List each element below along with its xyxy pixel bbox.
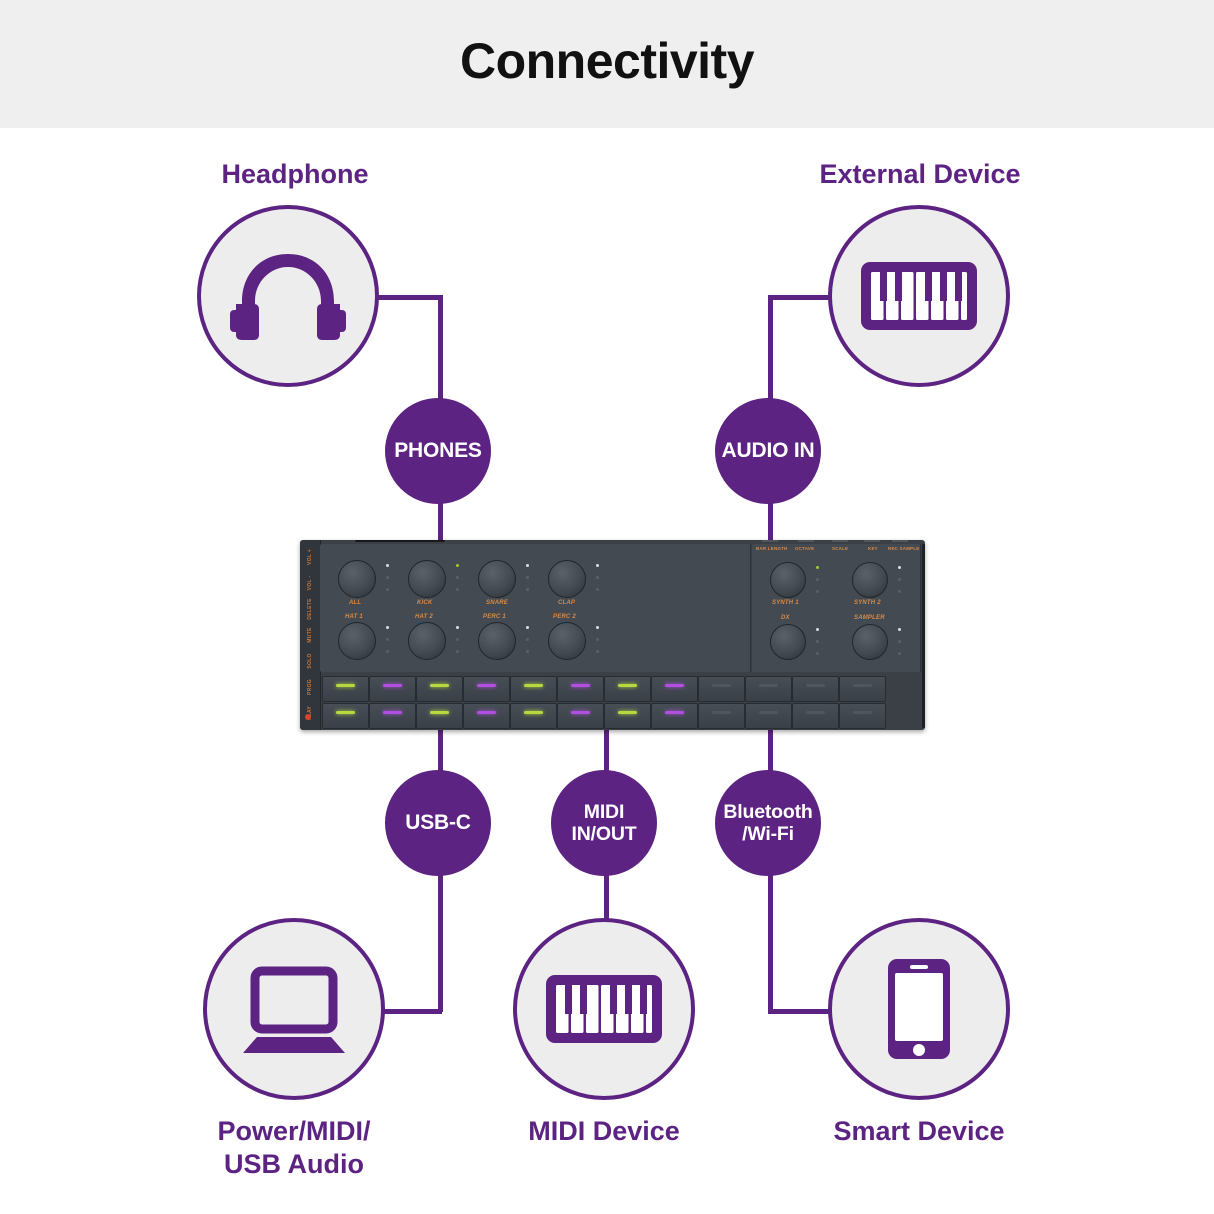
pad[interactable]: [839, 676, 886, 702]
device-main-panel: [320, 544, 750, 672]
menu-item[interactable]: REVERB: [922, 678, 925, 683]
knob-all[interactable]: [338, 560, 376, 598]
menu-item[interactable]: ATTACK: [922, 606, 925, 611]
menu-item[interactable]: CHARACTER: [922, 570, 925, 575]
node-midi-device[interactable]: [513, 918, 695, 1100]
knob-synth-1[interactable]: [770, 562, 806, 598]
knob-synth-2[interactable]: [852, 562, 888, 598]
pad[interactable]: [416, 703, 463, 729]
knob-snare[interactable]: [478, 560, 516, 598]
knob-sampler[interactable]: [852, 624, 888, 660]
connector-external-v: [768, 295, 773, 410]
page-title: Connectivity: [0, 32, 1214, 90]
keyboard-piano-icon: [544, 973, 664, 1045]
pad[interactable]: [557, 703, 604, 729]
port-badge-midi-in-out-label: MIDI IN/OUT: [572, 801, 637, 846]
seq-label: BAR LENGTH: [756, 546, 788, 551]
pad[interactable]: [510, 676, 557, 702]
menu-item[interactable]: VOLUME: [922, 597, 925, 602]
pad[interactable]: [463, 676, 510, 702]
menu-item[interactable]: PAN: [922, 588, 925, 593]
seq-button[interactable]: [864, 540, 880, 542]
menu-item[interactable]: SCENE: [922, 696, 925, 701]
seq-button[interactable]: [832, 540, 848, 542]
page-header: Connectivity: [0, 0, 1214, 128]
device-left-strip: VOL + VOL - DELETE MUTE SOLO PROG PLAY: [300, 540, 321, 730]
device-left-label: PLAY: [307, 691, 313, 730]
connector-phones-device: [438, 498, 443, 546]
knob-label: ALL: [349, 600, 361, 606]
node-headphone[interactable]: [197, 205, 379, 387]
menu-item[interactable]: FILTER: [922, 651, 925, 656]
menu-item[interactable]: RESONANCE: [922, 642, 925, 647]
node-label-midi-device: MIDI Device: [439, 1115, 769, 1148]
pad[interactable]: [651, 676, 698, 702]
connectivity-diagram: Connectivity Headphone External Devi: [0, 0, 1214, 1214]
record-indicator-icon: [305, 714, 311, 720]
node-power-midi-usb-audio[interactable]: [203, 918, 385, 1100]
knob-label: SYNTH 2: [854, 600, 881, 606]
seq-label: OCTAVE: [795, 546, 814, 551]
pad[interactable]: [698, 703, 745, 729]
knob-perc-1[interactable]: [478, 622, 516, 660]
connector-audioin-device: [768, 498, 773, 546]
pad[interactable]: [745, 703, 792, 729]
pad[interactable]: [369, 676, 416, 702]
port-badge-audio-in-label: AUDIO IN: [722, 439, 815, 463]
pad[interactable]: [604, 703, 651, 729]
pad[interactable]: [839, 703, 886, 729]
port-badge-phones[interactable]: PHONES: [385, 398, 491, 504]
knob-hat-1[interactable]: [338, 622, 376, 660]
port-badge-bluetooth-wifi[interactable]: Bluetooth /Wi-Fi: [715, 770, 821, 876]
knob-label: SYNTH 1: [772, 600, 799, 606]
menu-item[interactable]: TONE: [922, 633, 925, 638]
pad[interactable]: [463, 703, 510, 729]
connector-usbc-v: [438, 866, 443, 1012]
port-badge-bluetooth-wifi-label: Bluetooth /Wi-Fi: [723, 801, 812, 846]
connector-external-h: [768, 295, 832, 300]
pad[interactable]: [416, 676, 463, 702]
seq-label: SCALE: [832, 546, 848, 551]
seq-button[interactable]: [798, 540, 814, 542]
knob-kick[interactable]: [408, 560, 446, 598]
node-smart-device[interactable]: [828, 918, 1010, 1100]
port-badge-phones-label: PHONES: [394, 439, 482, 463]
connector-bt-v: [768, 866, 773, 1012]
menu-item[interactable]: DELAY: [922, 660, 925, 665]
node-label-power-midi-usb-audio: Power/MIDI/ USB Audio: [129, 1115, 459, 1181]
seq-button[interactable]: [892, 540, 908, 542]
node-label-headphone: Headphone: [130, 158, 460, 191]
connector-headphone-h: [378, 295, 442, 300]
pad[interactable]: [369, 703, 416, 729]
pad[interactable]: [745, 676, 792, 702]
node-label-external-device: External Device: [755, 158, 1085, 191]
connector-headphone-v: [438, 295, 443, 410]
knob-label: PERC 1: [483, 614, 506, 620]
device-pad-grid[interactable]: [322, 676, 918, 728]
knob-label: CLAP: [558, 600, 575, 606]
menu-item[interactable]: PITCH: [922, 561, 925, 566]
menu-item[interactable]: CHORUS: [922, 669, 925, 674]
pad[interactable]: [792, 676, 839, 702]
pad[interactable]: [322, 676, 369, 702]
menu-item[interactable]: REPEATER: [922, 687, 925, 692]
knob-label: HAT 2: [415, 614, 433, 620]
seq-button[interactable]: [762, 540, 778, 542]
knob-label: PERC 2: [553, 614, 576, 620]
headphones-icon: [228, 248, 348, 344]
pad[interactable]: [651, 703, 698, 729]
knob-dx[interactable]: [770, 624, 806, 660]
menu-item[interactable]: DRIVE: [922, 714, 925, 719]
device-menu-column[interactable]: SOUND PITCH CHARACTER DECAY PAN VOLUME A…: [922, 544, 925, 728]
knob-hat-2[interactable]: [408, 622, 446, 660]
pad[interactable]: [510, 703, 557, 729]
node-external-device[interactable]: [828, 205, 1010, 387]
pad[interactable]: [557, 676, 604, 702]
smartphone-icon: [886, 957, 952, 1061]
seq-label: REC SAMPLE: [888, 546, 920, 551]
laptop-icon: [235, 963, 353, 1055]
port-badge-midi-in-out[interactable]: MIDI IN/OUT: [551, 770, 657, 876]
yamaha-groovebox-device[interactable]: YAMAHA VOL + VOL - DELETE MUTE SOLO PROG…: [300, 540, 925, 730]
seq-label: KEY: [868, 546, 878, 551]
port-badge-usb-c[interactable]: USB-C: [385, 770, 491, 876]
menu-item[interactable]: DECAY: [922, 579, 925, 584]
pad[interactable]: [698, 676, 745, 702]
knob-label: SNARE: [486, 600, 508, 606]
knob-label: SAMPLER: [854, 615, 885, 621]
port-badge-audio-in[interactable]: AUDIO IN: [715, 398, 821, 504]
knob-label: DX: [781, 615, 790, 621]
keyboard-piano-icon: [859, 260, 979, 332]
menu-item[interactable]: MOD SPEED: [922, 624, 925, 629]
menu-item[interactable]: RELEASE: [922, 615, 925, 620]
knob-perc-2[interactable]: [548, 622, 586, 660]
pad[interactable]: [604, 676, 651, 702]
pad[interactable]: [322, 703, 369, 729]
pad[interactable]: [792, 703, 839, 729]
node-label-smart-device: Smart Device: [754, 1115, 1084, 1148]
yamaha-brand-plate: YAMAHA: [355, 540, 445, 542]
menu-item[interactable]: GATE: [922, 705, 925, 710]
knob-label: HAT 1: [345, 614, 363, 620]
knob-clap[interactable]: [548, 560, 586, 598]
port-badge-usb-c-label: USB-C: [405, 811, 471, 835]
knob-label: KICK: [417, 600, 432, 606]
menu-item[interactable]: SOUND: [922, 552, 925, 557]
